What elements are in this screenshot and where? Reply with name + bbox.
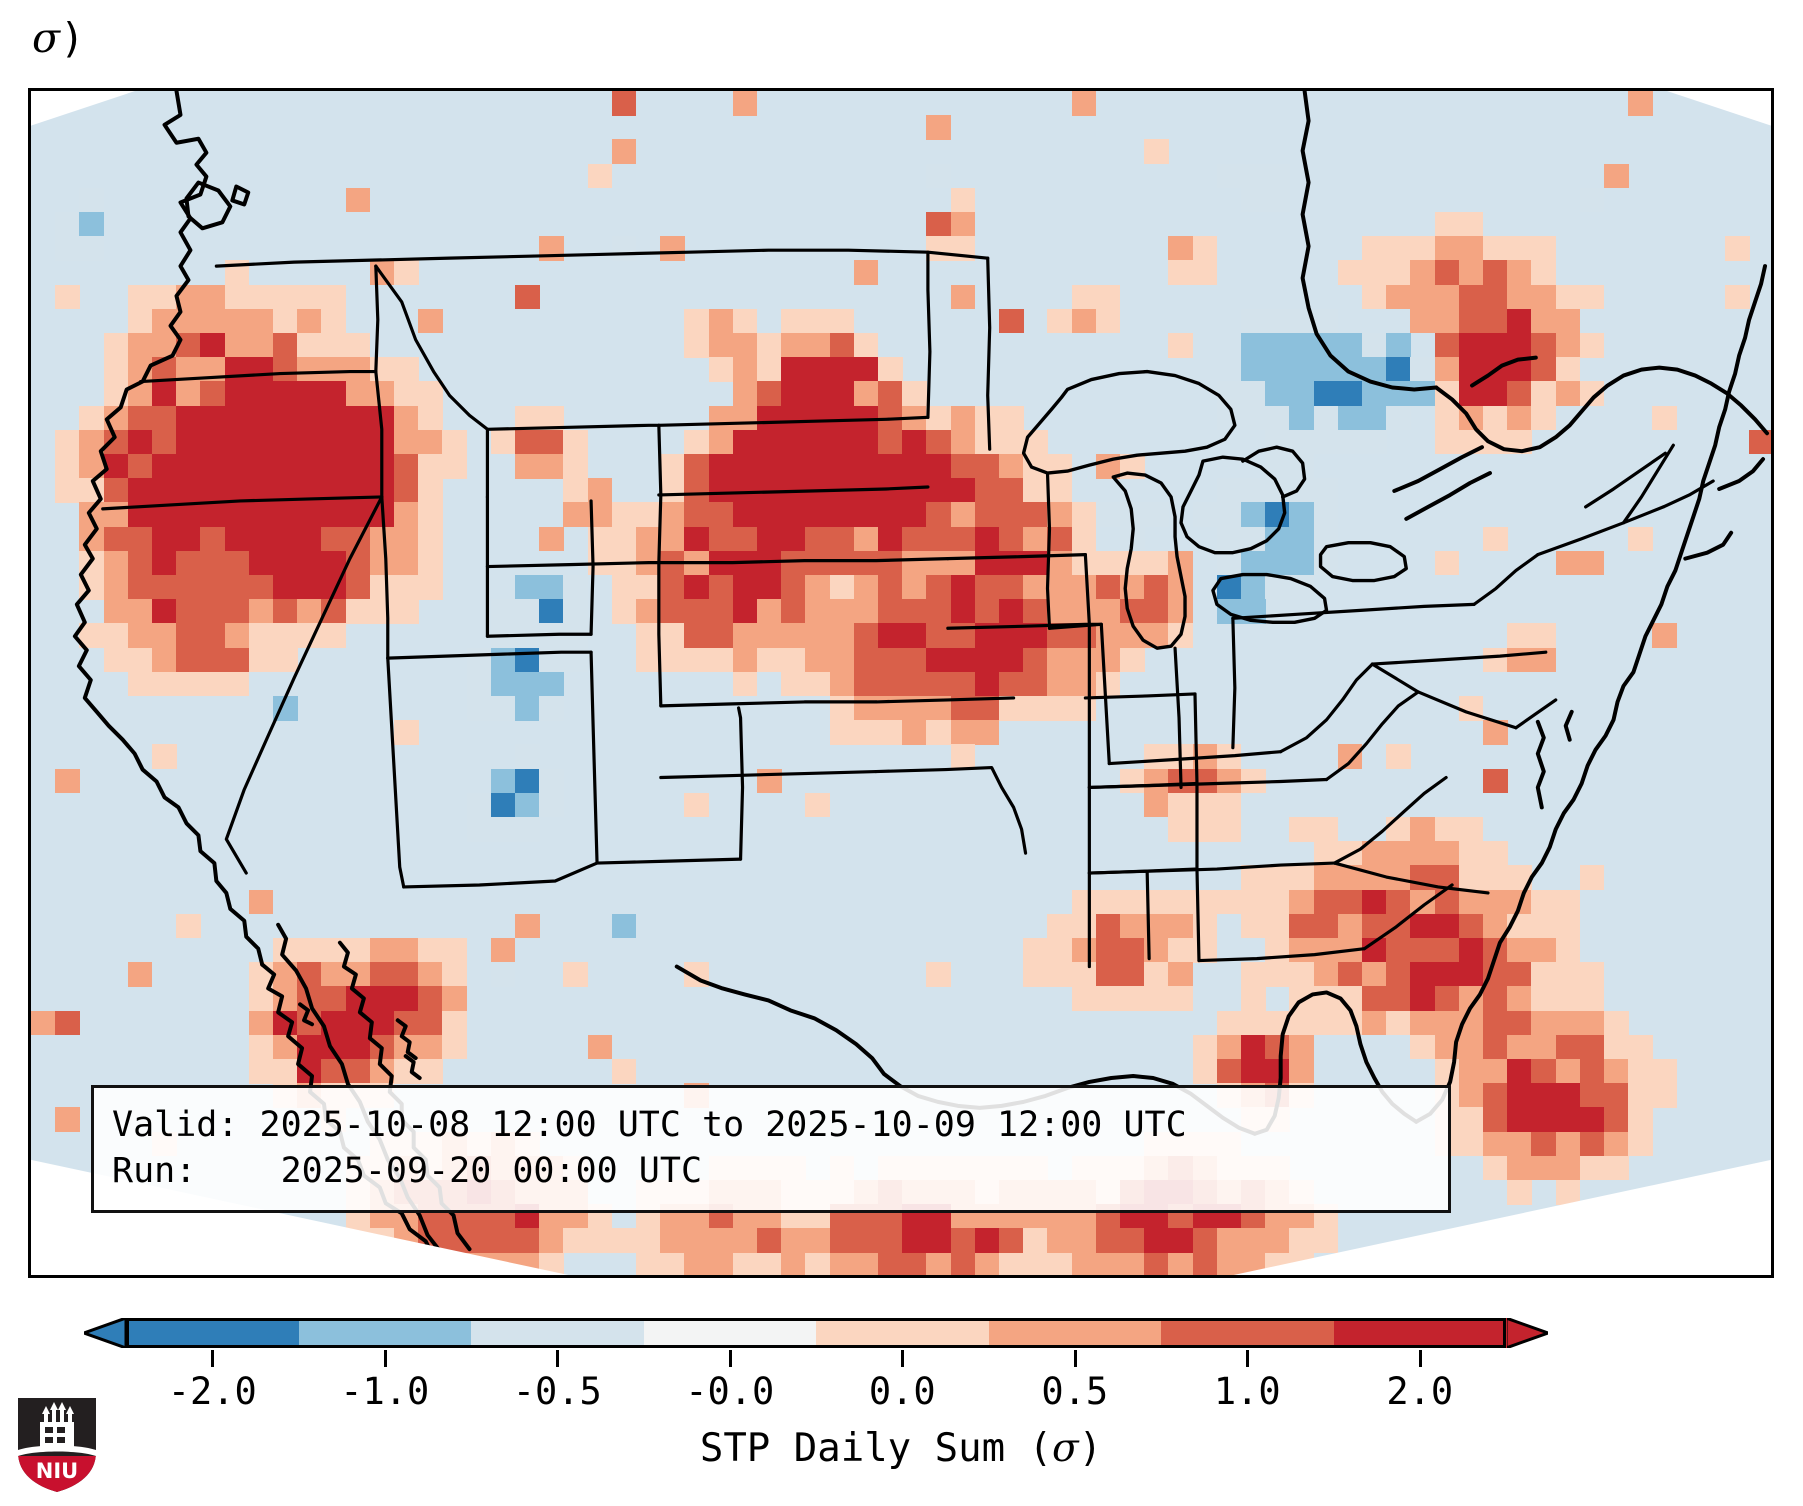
heatmap-cell [854, 1277, 879, 1278]
heatmap-cell [926, 1277, 951, 1278]
niu-logo: NIU [16, 1394, 98, 1494]
colorbar-tick-label: 1.0 [1214, 1370, 1281, 1413]
heatmap-cell [1265, 1277, 1290, 1278]
heatmap-cell [951, 1277, 976, 1278]
colorbar[interactable]: STP Daily Sum (σ) -2.0-1.0-0.5-0.00.00.5… [28, 1306, 1774, 1506]
colorbar-tick [384, 1350, 387, 1367]
heatmap-cell [733, 1277, 758, 1278]
heatmap-cell [1773, 91, 1774, 116]
colorbar-axis-label: STP Daily Sum (σ) [28, 1426, 1774, 1471]
heatmap-cell [1652, 1277, 1677, 1278]
heatmap-cell [1773, 986, 1774, 1011]
run-line: Run: 2025-09-20 00:00 UTC [112, 1148, 1430, 1194]
colorbar-segment [644, 1318, 817, 1348]
heatmap-cell [442, 1277, 467, 1278]
colorbar-segment [471, 1318, 644, 1348]
colorbar-tick-label: 0.5 [1041, 1370, 1108, 1413]
heatmap-cell [1241, 1277, 1266, 1278]
heatmap-cell [878, 1277, 903, 1278]
colorbar-extend-max-arrow [1506, 1318, 1548, 1348]
colorbar-tick-label: -2.0 [168, 1370, 257, 1413]
colorbar-segment [816, 1318, 989, 1348]
colorbar-extend-min-arrow [84, 1318, 126, 1348]
colorbar-tick [1419, 1350, 1422, 1367]
colorbar-tick-label: 2.0 [1386, 1370, 1453, 1413]
colorbar-tick-label: -1.0 [340, 1370, 429, 1413]
colorbar-tick [1074, 1350, 1077, 1367]
heatmap-cell [1168, 1277, 1193, 1278]
page-title: σ) [32, 14, 85, 62]
colorbar-gradient[interactable] [126, 1318, 1506, 1348]
valid-run-annotation: Valid: 2025-10-08 12:00 UTC to 2025-10-0… [91, 1085, 1451, 1213]
heatmap-cell [975, 1277, 1000, 1278]
heatmap-cell [902, 1277, 927, 1278]
heatmap-cell [1023, 1277, 1048, 1278]
title-suffix: ) [60, 14, 85, 62]
colorbar-tick-label: -0.0 [685, 1370, 774, 1413]
heatmap-cell [1072, 1277, 1097, 1278]
niu-logo-text: NIU [36, 1459, 78, 1483]
colorbar-segment [299, 1318, 472, 1348]
colorbar-tick [1246, 1350, 1249, 1367]
heatmap-cell [1120, 1277, 1145, 1278]
map-plot-area[interactable]: Valid: 2025-10-08 12:00 UTC to 2025-10-0… [28, 88, 1774, 1278]
heatmap-cell [515, 1277, 540, 1278]
heatmap-cell [1773, 1035, 1774, 1060]
heatmap-cell [1144, 1277, 1169, 1278]
heatmap-cell [1096, 1277, 1121, 1278]
colorbar-segment [126, 1318, 299, 1348]
colorbar-tick-label: -0.5 [513, 1370, 602, 1413]
colorbar-tick [556, 1350, 559, 1367]
colorbar-tick [211, 1350, 214, 1367]
colorbar-tick-label: 0.0 [869, 1370, 936, 1413]
sigma-symbol: σ [32, 14, 60, 62]
heatmap-cell [1217, 1277, 1242, 1278]
colorbar-segment [1334, 1318, 1507, 1348]
colorbar-segment [1161, 1318, 1334, 1348]
valid-line: Valid: 2025-10-08 12:00 UTC to 2025-10-0… [112, 1102, 1430, 1148]
colorbar-label-suffix: ) [1079, 1426, 1102, 1471]
heatmap-cell [1773, 938, 1774, 963]
colorbar-tick [901, 1350, 904, 1367]
heatmap-cell [491, 1277, 516, 1278]
heatmap-cell [467, 1277, 492, 1278]
colorbar-segment [989, 1318, 1162, 1348]
colorbar-tick [729, 1350, 732, 1367]
heatmap-cell [1193, 1277, 1218, 1278]
sigma-symbol-colorbar: σ [1052, 1426, 1079, 1471]
colorbar-label-text: STP Daily Sum ( [700, 1426, 1052, 1471]
heatmap-cell [999, 1277, 1024, 1278]
